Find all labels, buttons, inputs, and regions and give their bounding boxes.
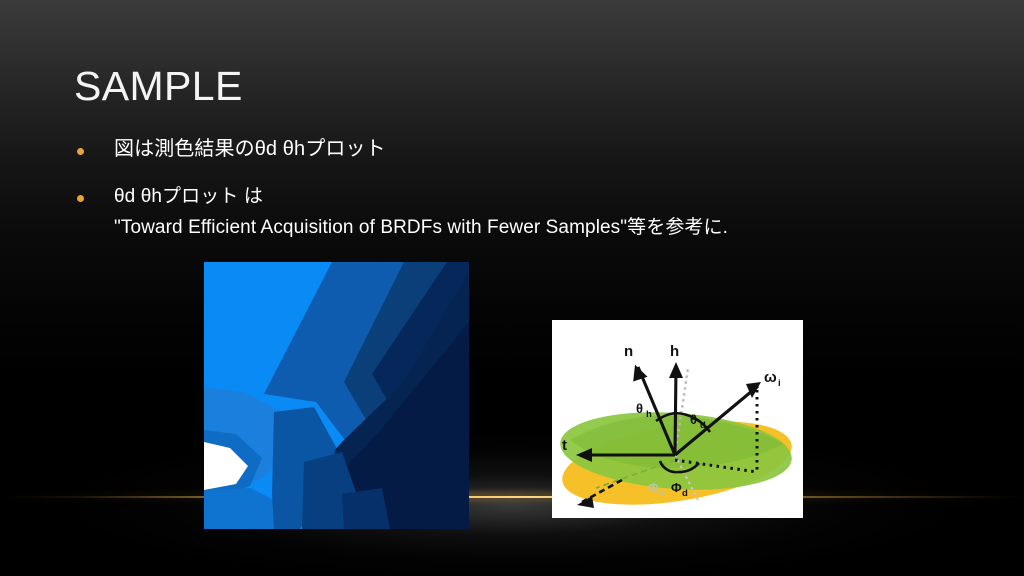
slide: SAMPLE 図は測色結果のθd θhプロット θd θhプロット は "Tow…	[0, 0, 1024, 576]
plot-region-bottom-center	[342, 488, 390, 529]
svg-text:h: h	[646, 409, 652, 420]
svg-text:ω: ω	[764, 369, 777, 386]
incident-label: ω i	[764, 369, 781, 389]
brdf-diagram-figure: n h ω i t θ h θ d Φ h Φ d	[552, 320, 803, 518]
svg-text:d: d	[682, 488, 688, 499]
bullet-dot-icon	[77, 148, 84, 155]
svg-text:i: i	[778, 378, 781, 389]
theta-plot-graphic	[204, 262, 469, 529]
svg-text:θ: θ	[636, 401, 643, 416]
tangent-label: t	[562, 437, 567, 454]
svg-text:Φ: Φ	[671, 480, 682, 495]
list-item: 図は測色結果のθd θhプロット	[70, 134, 950, 165]
brdf-diagram-graphic: n h ω i t θ h θ d Φ h Φ d	[552, 320, 803, 518]
half-vector-arrowhead	[669, 362, 683, 378]
list-item-label: θd θhプロット は "Toward Efficient Acquisitio…	[114, 181, 950, 243]
theta-plot-figure	[204, 262, 469, 529]
half-vector-line	[675, 367, 676, 455]
svg-text:θ: θ	[690, 412, 697, 427]
list-item: θd θhプロット は "Toward Efficient Acquisitio…	[70, 181, 950, 243]
svg-text:d: d	[700, 420, 706, 431]
bullet-dot-icon	[77, 195, 84, 202]
half-vector-label: h	[670, 343, 679, 360]
normal-label: n	[624, 343, 633, 360]
page-title: SAMPLE	[74, 62, 243, 110]
svg-text:h: h	[658, 488, 664, 499]
body-content: 図は測色結果のθd θhプロット θd θhプロット は "Toward Eff…	[70, 134, 950, 259]
list-item-label: 図は測色結果のθd θhプロット	[114, 134, 950, 165]
